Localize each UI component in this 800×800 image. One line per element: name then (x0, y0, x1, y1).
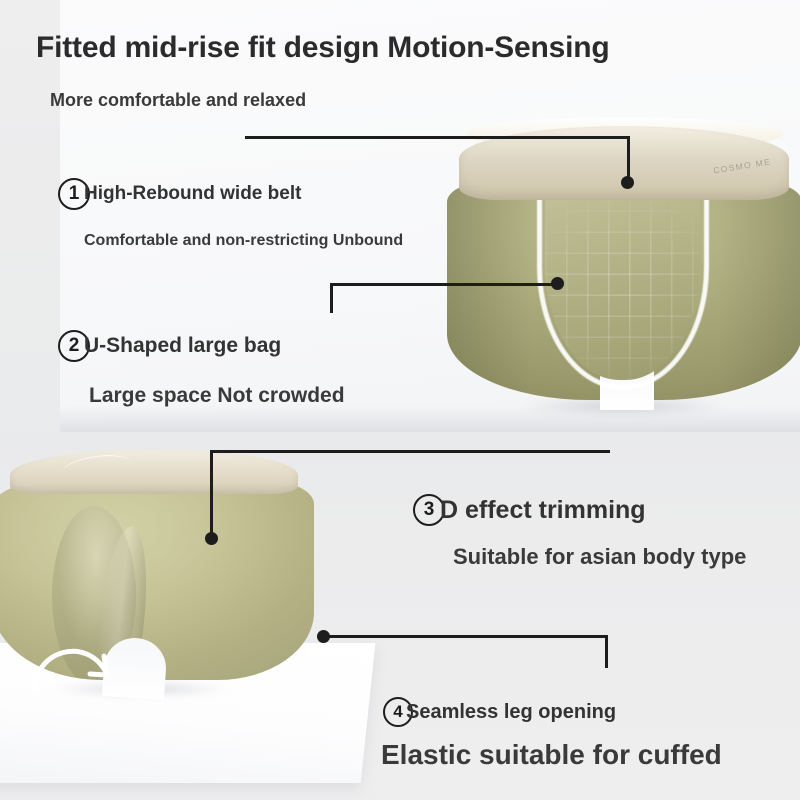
leader-line-4-vertical (605, 635, 608, 668)
leg-opening-arrow-icon (28, 628, 138, 698)
callout-1-head: 1 High-Rebound wide belt (58, 178, 301, 210)
product-front-view: COSMO ME (447, 126, 800, 411)
back-waistband-stitch (61, 451, 134, 485)
callout-2-head: 2 U-Shaped large bag (58, 330, 281, 362)
callout-1-title: High-Rebound wide belt (84, 183, 301, 205)
callout-4-subtitle: Elastic suitable for cuffed (381, 739, 722, 771)
page-subtitle: More comfortable and relaxed (50, 90, 306, 111)
callout-2-subtitle: Large space Not crowded (89, 384, 345, 408)
callout-1-subtitle: Comfortable and non-restricting Unbound (84, 232, 403, 250)
infographic-canvas: COSMO ME Fitted mid-rise fit design Moti… (0, 0, 800, 800)
leader-dot-1 (621, 176, 634, 189)
callout-3-subtitle: Suitable for asian body type (453, 544, 746, 570)
leader-line-4-horizontal (323, 635, 608, 638)
callout-3-head: 3 D effect trimming (413, 494, 646, 526)
leader-line-3-vertical (210, 450, 213, 538)
callout-4: 4 Seamless leg opening Elastic suitable … (383, 697, 616, 727)
callout-1: 1 High-Rebound wide belt Comfortable and… (58, 178, 301, 210)
callout-2-title: U-Shaped large bag (84, 334, 281, 358)
callout-3: 3 D effect trimming Suitable for asian b… (413, 494, 646, 526)
leader-line-2-vertical (330, 283, 333, 313)
leader-dot-2 (551, 277, 564, 290)
back-waistband (10, 450, 298, 494)
callout-3-title: D effect trimming (440, 496, 646, 525)
callout-4-head: 4 Seamless leg opening (383, 697, 616, 727)
callout-4-title: Seamless leg opening (406, 701, 616, 724)
leader-line-2-horizontal (330, 283, 558, 286)
page-title: Fitted mid-rise fit design Motion-Sensin… (36, 31, 609, 65)
product-back-view (0, 450, 322, 720)
callout-2: 2 U-Shaped large bag Large space Not cro… (58, 330, 281, 362)
leader-line-3-horizontal (210, 450, 610, 453)
leader-line-1-horizontal (245, 136, 630, 139)
